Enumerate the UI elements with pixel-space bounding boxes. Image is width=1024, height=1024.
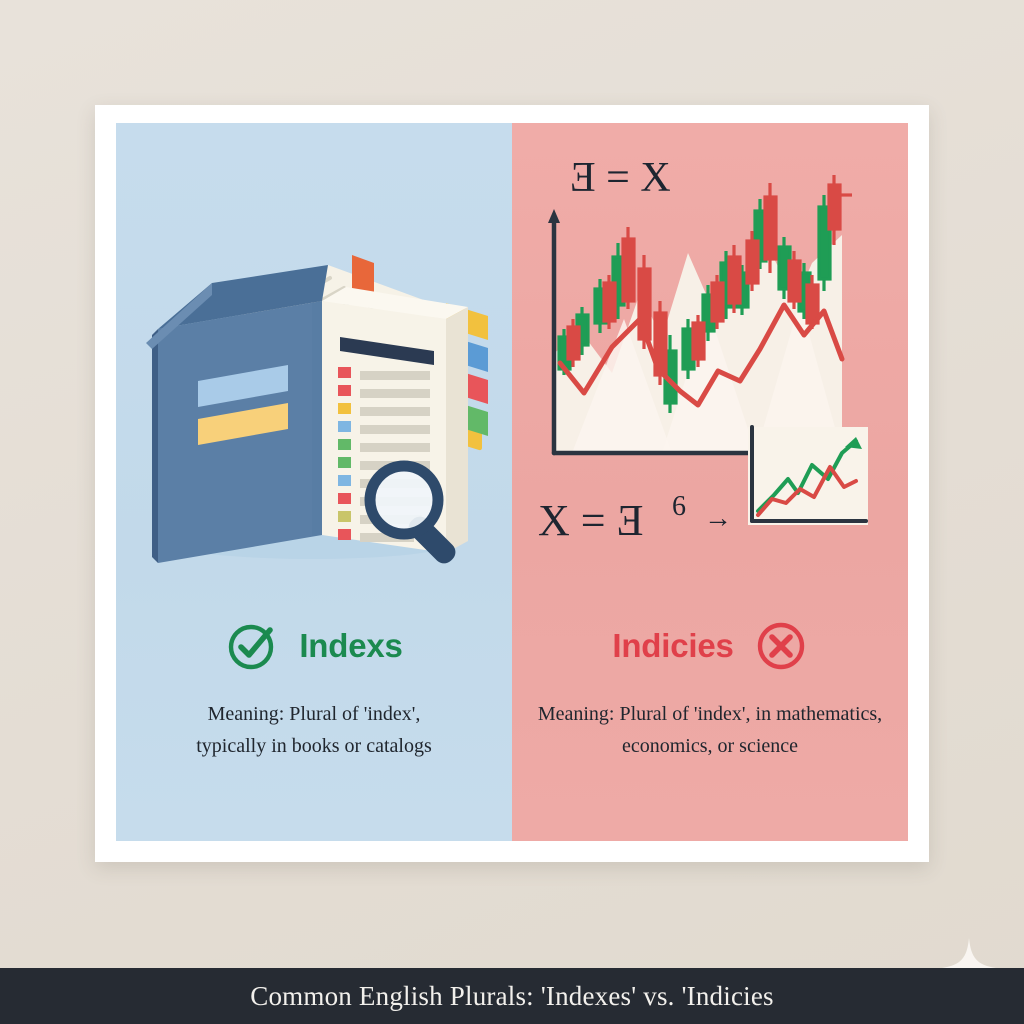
formula-bottom-text: X = Ǝ: [538, 496, 643, 545]
caption-text: Common English Plurals: 'Indexes' vs. 'I…: [250, 981, 773, 1012]
check-circle-icon: [225, 619, 279, 673]
panel-correct[interactable]: Indexs Meaning: Plural of 'index', typic…: [116, 123, 512, 841]
poster-canvas: Indexs Meaning: Plural of 'index', typic…: [0, 0, 1024, 1024]
meaning-line-2: typically in books or catalogs: [128, 730, 500, 762]
poster-frame: Indexs Meaning: Plural of 'index', typic…: [95, 105, 929, 862]
candlestick-chart-illustration: Ǝ = X: [512, 123, 908, 593]
meaning-incorrect: Meaning: Plural of 'index', in mathemati…: [524, 698, 896, 763]
panel-incorrect[interactable]: Ǝ = X: [512, 123, 908, 841]
meaning-line-1: Meaning: Plural of 'index',: [128, 698, 500, 730]
caption-bar: Common English Plurals: 'Indexes' vs. 'I…: [0, 968, 1024, 1024]
headline-incorrect: Indicies: [612, 627, 733, 665]
meaning-line-1: Meaning: Plural of 'index', in mathemati…: [524, 698, 896, 730]
comparison-panels: Indexs Meaning: Plural of 'index', typic…: [116, 123, 908, 841]
mini-trend-inset-chart: [748, 427, 868, 525]
svg-text:6: 6: [672, 491, 686, 522]
meaning-line-2: economics, or science: [524, 730, 896, 762]
verdict-row-correct: Indexs: [116, 613, 512, 679]
formula-top-text: Ǝ = X: [570, 155, 671, 201]
meaning-correct: Meaning: Plural of 'index', typically in…: [128, 698, 500, 763]
headline-correct: Indexs: [299, 627, 402, 665]
svg-text:→: →: [704, 502, 732, 533]
x-circle-icon: [754, 619, 808, 673]
verdict-row-incorrect: Indicies: [512, 613, 908, 679]
book-with-magnifier-illustration: [116, 123, 512, 593]
